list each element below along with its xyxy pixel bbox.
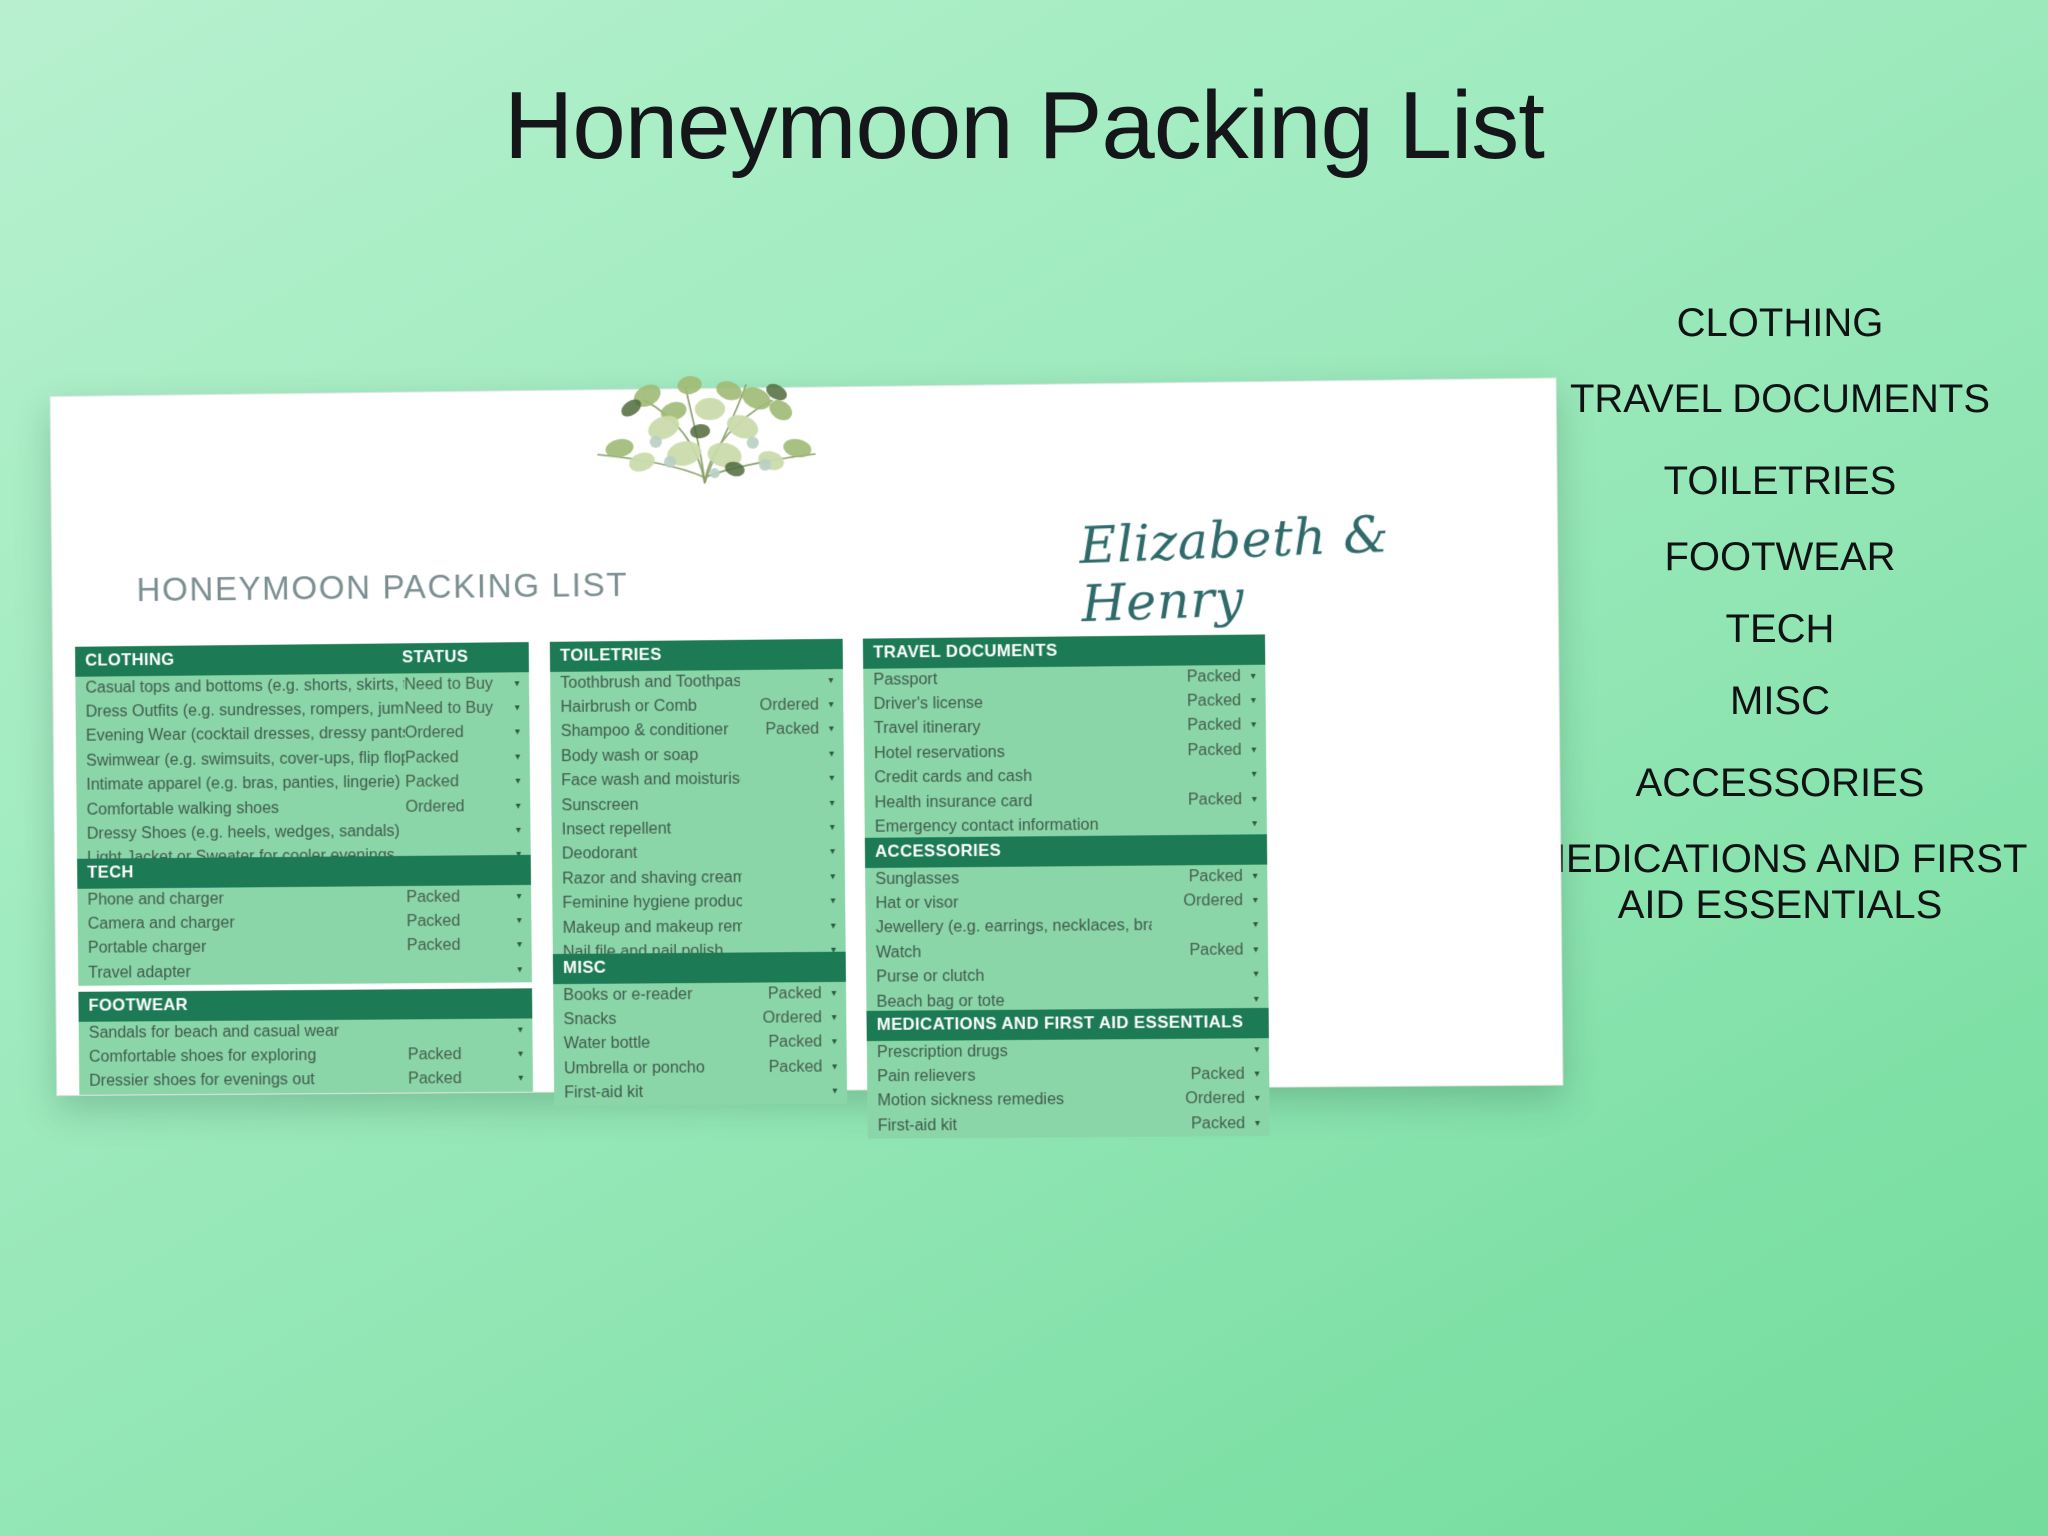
table-row[interactable]: Hat or visorOrdered▾	[865, 889, 1267, 917]
chevron-down-icon[interactable]: ▾	[1243, 896, 1268, 906]
row-item-label: Camera and charger	[88, 914, 407, 933]
row-status-value: Ordered	[405, 798, 506, 815]
row-status-value	[741, 779, 820, 780]
table-row[interactable]: Credit cards and cash▾	[864, 763, 1266, 791]
row-item-label: First-aid kit	[878, 1117, 1154, 1135]
row-item-label: Dressier shoes for evenings out	[89, 1072, 408, 1090]
row-item-label: Shampoo & conditioner	[561, 723, 741, 741]
chevron-down-icon[interactable]: ▾	[819, 676, 843, 686]
chevron-down-icon[interactable]: ▾	[1242, 745, 1267, 755]
table-row[interactable]: Hotel reservationsPacked▾	[864, 738, 1266, 766]
row-item-label: Beach bag or tote	[876, 992, 1152, 1010]
row-item-label: Emergency contact information	[875, 817, 1151, 836]
table-header-label: FOOTWEAR	[88, 997, 188, 1014]
chevron-down-icon[interactable]: ▾	[1242, 770, 1267, 780]
row-status-value	[1153, 1000, 1245, 1001]
chevron-down-icon[interactable]: ▾	[822, 1038, 846, 1048]
table-row[interactable]: Hairbrush or CombOrdered▾	[550, 693, 843, 720]
category-index: CLOTHING TRAVEL DOCUMENTS TOILETRIES FOO…	[1520, 300, 2040, 958]
row-status-value: Ordered	[740, 697, 819, 714]
table-row[interactable]: Phone and chargerPacked▾	[77, 884, 531, 912]
status-column-header: STATUS	[402, 649, 468, 666]
table-body-toiletries: Toothbrush and Toothpaste▾Hairbrush or C…	[550, 668, 846, 989]
category-index-item-travel-documents: TRAVEL DOCUMENTS	[1520, 376, 2040, 422]
chevron-down-icon[interactable]: ▾	[822, 1062, 846, 1072]
table-travel-documents[interactable]: TRAVEL DOCUMENTS PassportPacked▾Driver's…	[863, 634, 1267, 840]
table-header-label: MEDICATIONS AND FIRST AID ESSENTIALS	[877, 1014, 1244, 1033]
row-item-label: Portable charger	[88, 939, 407, 958]
chevron-down-icon[interactable]: ▾	[505, 728, 529, 738]
row-item-label: Water bottle	[564, 1035, 744, 1052]
row-item-label: Prescription drugs	[877, 1043, 1153, 1061]
row-status-value: Packed	[1152, 942, 1244, 959]
chevron-down-icon[interactable]: ▾	[1242, 819, 1267, 829]
table-row[interactable]: Insect repellent▾	[552, 816, 845, 843]
table-header-clothing: CLOTHING STATUS	[75, 642, 529, 676]
table-body-clothing: Casual tops and bottoms (e.g. shorts, sk…	[75, 672, 531, 872]
table-body-medications: Prescription drugs▾Pain relieversPacked▾…	[867, 1038, 1270, 1139]
table-row[interactable]: Prescription drugs▾	[867, 1038, 1269, 1065]
row-status-value: Ordered	[1151, 893, 1243, 910]
table-header-accessories: ACCESSORIES	[865, 834, 1267, 867]
row-status-value	[741, 828, 820, 829]
table-misc[interactable]: MISC Books or e-readerPacked▾SnacksOrder…	[553, 952, 847, 1106]
category-index-item-tech: TECH	[1520, 606, 2040, 652]
row-item-label: Toothbrush and Toothpaste	[560, 674, 740, 692]
chevron-down-icon[interactable]: ▾	[1241, 721, 1266, 731]
row-status-value	[742, 902, 821, 903]
table-header-label: TRAVEL DOCUMENTS	[873, 643, 1057, 662]
category-index-item-misc: MISC	[1520, 678, 2040, 724]
category-index-item-footwear: FOOTWEAR	[1520, 534, 2040, 580]
row-status-value: Packed	[1149, 669, 1241, 686]
table-row[interactable]: Travel adapter▾	[78, 958, 532, 986]
row-status-value	[740, 681, 819, 682]
row-status-value: Packed	[1150, 693, 1242, 710]
chevron-down-icon[interactable]: ▾	[1245, 1070, 1270, 1080]
table-row[interactable]: WatchPacked▾	[866, 938, 1268, 966]
table-body-accessories: SunglassesPacked▾Hat or visorOrdered▾Jew…	[865, 864, 1269, 1015]
chevron-down-icon[interactable]: ▾	[508, 1050, 532, 1060]
table-row[interactable]: Water bottlePacked▾	[554, 1030, 847, 1057]
chevron-down-icon[interactable]: ▾	[505, 679, 529, 689]
row-item-label: Purse or clutch	[876, 968, 1152, 986]
table-body-footwear: Sandals for beach and casual wear▾Comfor…	[79, 1018, 533, 1095]
table-row[interactable]: Comfortable shoes for exploringPacked▾	[79, 1042, 533, 1070]
chevron-down-icon[interactable]: ▾	[508, 965, 532, 975]
chevron-down-icon[interactable]: ▾	[819, 725, 843, 735]
row-status-value	[1152, 926, 1244, 927]
row-status-value	[741, 755, 820, 756]
table-accessories[interactable]: ACCESSORIES SunglassesPacked▾Hat or viso…	[865, 834, 1269, 1014]
chevron-down-icon[interactable]: ▾	[820, 823, 844, 833]
row-status-value: Packed	[1153, 1067, 1245, 1084]
table-row[interactable]: Razor and shaving cream▾	[552, 865, 845, 892]
row-item-label: Intimate apparel (e.g. bras, panties, li…	[86, 775, 405, 794]
row-item-label: Swimwear (e.g. swimsuits, cover-ups, fli…	[86, 751, 405, 770]
table-clothing[interactable]: CLOTHING STATUS Casual tops and bottoms …	[75, 642, 531, 871]
row-item-label: Sandals for beach and casual wear	[89, 1023, 408, 1041]
chevron-down-icon[interactable]: ▾	[822, 1013, 846, 1023]
row-item-label: Dressy Shoes (e.g. heels, wedges, sandal…	[87, 824, 406, 843]
row-item-label: Comfortable shoes for exploring	[89, 1048, 408, 1066]
row-item-label: Hat or visor	[875, 894, 1151, 912]
chevron-down-icon[interactable]: ▾	[820, 798, 844, 808]
table-row[interactable]: Motion sickness remediesOrdered▾	[867, 1087, 1269, 1114]
table-row[interactable]: Sunscreen▾	[551, 791, 844, 818]
row-status-value: Packed	[407, 938, 508, 955]
table-header-medications: MEDICATIONS AND FIRST AID ESSENTIALS	[866, 1008, 1268, 1041]
chevron-down-icon[interactable]: ▾	[820, 774, 844, 784]
chevron-down-icon[interactable]: ▾	[1244, 945, 1269, 955]
row-status-value	[1152, 975, 1244, 976]
row-item-label: Driver's license	[874, 694, 1150, 713]
table-row[interactable]: First-aid kit▾	[554, 1080, 847, 1107]
row-item-label: Comfortable walking shoes	[87, 799, 406, 818]
row-item-label: Travel itinerary	[874, 719, 1150, 738]
couple-names: Elizabeth & Henry	[1078, 499, 1559, 634]
category-index-item-toiletries: TOILETRIES	[1520, 458, 2040, 504]
chevron-down-icon[interactable]: ▾	[507, 941, 531, 951]
table-row[interactable]: SunglassesPacked▾	[865, 864, 1267, 892]
row-item-label: Hairbrush or Comb	[560, 698, 740, 716]
chevron-down-icon[interactable]: ▾	[507, 892, 531, 902]
chevron-down-icon[interactable]: ▾	[507, 916, 531, 926]
chevron-down-icon[interactable]: ▾	[819, 749, 843, 759]
chevron-down-icon[interactable]: ▾	[821, 872, 845, 882]
chevron-down-icon[interactable]: ▾	[1243, 871, 1268, 881]
table-row[interactable]: Health insurance cardPacked▾	[864, 787, 1266, 815]
row-status-value: Need to Buy	[404, 676, 505, 693]
row-status-value: Packed	[405, 774, 506, 791]
row-item-label: Motion sickness remedies	[877, 1092, 1153, 1110]
row-status-value	[744, 1092, 823, 1093]
row-item-label: Snacks	[563, 1011, 743, 1028]
row-item-label: Credit cards and cash	[874, 768, 1150, 787]
row-item-label: Hotel reservations	[874, 743, 1150, 762]
table-header-travel-documents: TRAVEL DOCUMENTS	[863, 634, 1265, 668]
sheet-title: HONEYMOON PACKING LIST	[136, 566, 628, 609]
chevron-down-icon[interactable]: ▾	[1241, 671, 1266, 681]
row-status-value	[742, 926, 821, 927]
table-tech[interactable]: TECH Phone and chargerPacked▾Camera and …	[77, 855, 532, 986]
table-row[interactable]: Dressier shoes for evenings outPacked▾	[79, 1067, 533, 1095]
chevron-down-icon[interactable]: ▾	[822, 989, 846, 999]
row-status-value: Ordered	[1153, 1091, 1245, 1108]
row-item-label: Dress Outfits (e.g. sundresses, rompers,…	[86, 702, 405, 721]
row-status-value	[742, 853, 821, 854]
row-status-value	[741, 804, 820, 805]
chevron-down-icon[interactable]: ▾	[506, 752, 530, 762]
category-index-item-clothing: CLOTHING	[1520, 300, 2040, 346]
row-status-value: Packed	[744, 1059, 823, 1076]
row-status-value	[742, 877, 821, 878]
table-body-travel-documents: PassportPacked▾Driver's licensePacked▾Tr…	[863, 664, 1267, 840]
row-status-value: Packed	[406, 889, 507, 906]
table-header-label: ACCESSORIES	[875, 843, 1001, 861]
row-item-label: Sunscreen	[561, 796, 741, 814]
chevron-down-icon[interactable]: ▾	[1244, 994, 1269, 1004]
row-status-value: Ordered	[405, 725, 506, 742]
row-status-value: Packed	[1154, 1116, 1246, 1133]
table-row[interactable]: Purse or clutch▾	[866, 963, 1268, 991]
row-item-label: Body wash or soap	[561, 747, 741, 765]
row-status-value: Packed	[1150, 743, 1242, 760]
row-status-value: Need to Buy	[404, 701, 505, 718]
table-header-label: MISC	[563, 960, 606, 977]
category-index-item-medications: MEDICATIONS AND FIRST AID ESSENTIALS	[1520, 836, 2040, 928]
chevron-down-icon[interactable]: ▾	[506, 777, 530, 787]
table-header-footwear: FOOTWEAR	[78, 988, 532, 1021]
table-row[interactable]: Books or e-readerPacked▾	[553, 981, 846, 1008]
row-item-label: Pain relievers	[877, 1067, 1153, 1085]
row-item-label: Umbrella or poncho	[564, 1060, 744, 1077]
table-row[interactable]: Travel itineraryPacked▾	[864, 713, 1266, 741]
table-row[interactable]: Pain relieversPacked▾	[867, 1062, 1269, 1089]
chevron-down-icon[interactable]: ▾	[508, 1025, 532, 1035]
row-item-label: Health insurance card	[875, 793, 1151, 812]
row-status-value	[1150, 775, 1242, 776]
table-header-toiletries: TOILETRIES	[550, 639, 843, 672]
table-row[interactable]: Portable chargerPacked▾	[78, 933, 532, 961]
row-status-value: Packed	[1150, 718, 1242, 735]
table-row[interactable]: Shampoo & conditionerPacked▾	[551, 718, 844, 745]
table-row[interactable]: Jewellery (e.g. earrings, necklaces, bra…	[866, 913, 1268, 941]
row-status-value: Packed	[743, 1035, 822, 1052]
row-status-value	[1151, 824, 1243, 825]
table-body-tech: Phone and chargerPacked▾Camera and charg…	[77, 884, 532, 985]
table-medications[interactable]: MEDICATIONS AND FIRST AID ESSENTIALS Pre…	[866, 1008, 1269, 1139]
row-item-label: Deodorant	[562, 845, 742, 863]
row-item-label: Feminine hygiene products	[562, 894, 742, 912]
row-item-label: Casual tops and bottoms (e.g. shorts, sk…	[85, 677, 404, 696]
chevron-down-icon[interactable]: ▾	[1243, 921, 1268, 931]
chevron-down-icon[interactable]: ▾	[1242, 795, 1267, 805]
chevron-down-icon[interactable]: ▾	[819, 700, 843, 710]
chevron-down-icon[interactable]: ▾	[506, 801, 530, 811]
category-index-item-accessories: ACCESSORIES	[1520, 760, 2040, 806]
table-header-label: CLOTHING	[85, 652, 175, 669]
row-item-label: Watch	[876, 943, 1152, 961]
table-row[interactable]: Makeup and makeup remover▾	[552, 914, 845, 941]
row-item-label: Makeup and makeup remover	[563, 919, 743, 937]
chevron-down-icon[interactable]: ▾	[821, 921, 845, 931]
row-item-label: Jewellery (e.g. earrings, necklaces, bra…	[876, 918, 1152, 936]
row-status-value	[406, 831, 507, 832]
row-status-value	[1153, 1050, 1245, 1051]
row-item-label: Insect repellent	[562, 821, 742, 839]
table-header-label: TOILETRIES	[560, 647, 662, 665]
row-item-label: Passport	[873, 670, 1149, 689]
table-row[interactable]: Toothbrush and Toothpaste▾	[550, 668, 843, 695]
table-header-misc: MISC	[553, 952, 846, 984]
chevron-down-icon[interactable]: ▾	[1241, 696, 1266, 706]
chevron-down-icon[interactable]: ▾	[1245, 1045, 1270, 1055]
chevron-down-icon[interactable]: ▾	[509, 1074, 533, 1084]
chevron-down-icon[interactable]: ▾	[1245, 1119, 1270, 1129]
table-row[interactable]: Umbrella or ponchoPacked▾	[554, 1055, 847, 1082]
chevron-down-icon[interactable]: ▾	[820, 847, 844, 857]
chevron-down-icon[interactable]: ▾	[505, 703, 529, 713]
table-row[interactable]: First-aid kitPacked▾	[867, 1112, 1269, 1139]
row-item-label: Phone and charger	[87, 890, 406, 909]
table-row[interactable]: Face wash and moisturiser▾	[551, 767, 844, 794]
row-item-label: Travel adapter	[88, 963, 407, 982]
table-row[interactable]: Camera and chargerPacked▾	[78, 909, 532, 937]
row-status-value: Ordered	[743, 1010, 822, 1027]
row-status-value: Packed	[1151, 868, 1243, 885]
table-header-label: TECH	[87, 864, 134, 881]
table-row[interactable]: Body wash or soap▾	[551, 742, 844, 769]
table-row[interactable]: SnacksOrdered▾	[553, 1006, 846, 1033]
table-toiletries[interactable]: TOILETRIES Toothbrush and Toothpaste▾Hai…	[550, 639, 846, 990]
row-status-value	[407, 970, 508, 971]
row-status-value: Packed	[408, 1047, 509, 1064]
row-status-value: Packed	[407, 913, 508, 930]
row-status-value: Packed	[743, 986, 822, 1003]
row-status-value: Packed	[740, 722, 819, 739]
chevron-down-icon[interactable]: ▾	[1245, 1094, 1270, 1104]
chevron-down-icon[interactable]: ▾	[821, 897, 845, 907]
table-row[interactable]: Deodorant▾	[552, 840, 845, 867]
table-body-misc: Books or e-readerPacked▾SnacksOrdered▾Wa…	[553, 981, 847, 1106]
chevron-down-icon[interactable]: ▾	[823, 1087, 847, 1097]
row-item-label: Books or e-reader	[563, 986, 743, 1003]
table-header-tech: TECH	[77, 855, 531, 888]
chevron-down-icon[interactable]: ▾	[506, 826, 530, 836]
spreadsheet-card[interactable]: HONEYMOON PACKING LIST Elizabeth & Henry…	[50, 377, 1564, 1096]
row-status-value: Packed	[1150, 792, 1242, 809]
row-item-label: Evening Wear (cocktail dresses, dressy p…	[86, 726, 405, 745]
chevron-down-icon[interactable]: ▾	[1244, 970, 1269, 980]
row-item-label: Razor and shaving cream	[562, 870, 742, 888]
floral-sprig-icon	[522, 363, 887, 488]
row-item-label: Face wash and moisturiser	[561, 772, 741, 790]
row-item-label: Sunglasses	[875, 869, 1151, 887]
row-status-value	[408, 1030, 509, 1031]
table-row[interactable]: Feminine hygiene products▾	[552, 889, 845, 916]
table-row[interactable]: Sandals for beach and casual wear▾	[79, 1018, 533, 1046]
row-status-value: Packed	[408, 1071, 509, 1088]
row-item-label: First-aid kit	[564, 1084, 744, 1101]
table-footwear[interactable]: FOOTWEAR Sandals for beach and casual we…	[78, 988, 533, 1094]
page-title: Honeymoon Packing List	[0, 78, 2048, 174]
row-status-value: Packed	[405, 750, 506, 767]
